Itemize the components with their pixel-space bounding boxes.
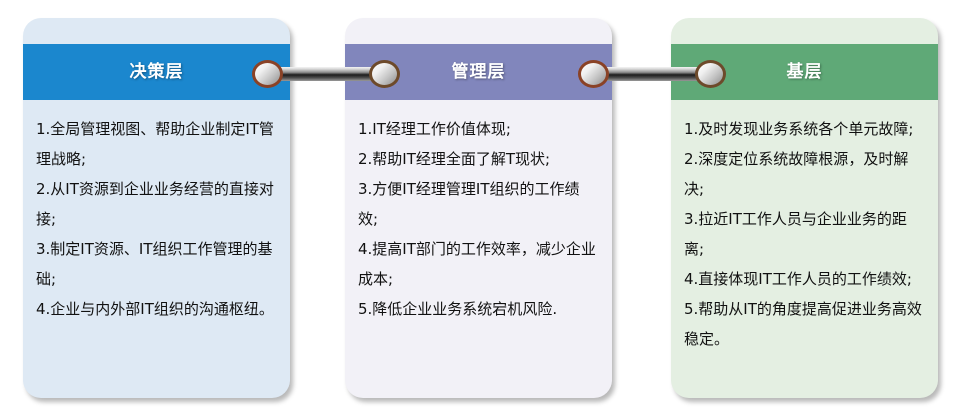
list-item: 4.直接体现IT工作人员的工作绩效; [684,264,925,294]
card-decision-layer[interactable]: 决策层 1.全局管理视图、帮助企业制定IT管理战略; 2.从IT资源到企业业务经… [23,18,290,398]
list-item: 5.帮助从IT的角度提高促进业务高效稳定。 [684,294,925,354]
card-header-management-layer: 管理层 [345,44,612,100]
list-item: 3.制定IT资源、IT组织工作管理的基础; [36,234,277,294]
list-item: 1.IT经理工作价值体现; [358,114,599,144]
card-header-base-layer: 基层 [671,44,938,100]
card-title-decision-layer: 决策层 [130,64,184,81]
list-item: 1.及时发现业务系统各个单元故障; [684,114,925,144]
list-item: 4.提高IT部门的工作效率，减少企业成本; [358,234,599,294]
card-title-management-layer: 管理层 [452,64,506,81]
card-body-decision-layer: 1.全局管理视图、帮助企业制定IT管理战略; 2.从IT资源到企业业务经营的直接… [23,100,290,334]
list-item: 3.方便IT经理管理IT组织的工作绩效; [358,174,599,234]
card-header-decision-layer: 决策层 [23,44,290,100]
list-item: 2.帮助IT经理全面了解T现状; [358,144,599,174]
card-body-management-layer: 1.IT经理工作价值体现; 2.帮助IT经理全面了解T现状; 3.方便IT经理管… [345,100,612,334]
list-item: 2.深度定位系统故障根源，及时解决; [684,144,925,204]
list-item: 3.拉近IT工作人员与企业业务的距离; [684,204,925,264]
list-item: 2.从IT资源到企业业务经营的直接对接; [36,174,277,234]
card-management-layer[interactable]: 管理层 1.IT经理工作价值体现; 2.帮助IT经理全面了解T现状; 3.方便I… [345,18,612,398]
diagram-canvas: 决策层 1.全局管理视图、帮助企业制定IT管理战略; 2.从IT资源到企业业务经… [0,0,960,416]
card-base-layer[interactable]: 基层 1.及时发现业务系统各个单元故障; 2.深度定位系统故障根源，及时解决; … [671,18,938,398]
list-item: 4.企业与内外部IT组织的沟通枢纽。 [36,294,277,324]
list-item: 1.全局管理视图、帮助企业制定IT管理战略; [36,114,277,174]
card-body-base-layer: 1.及时发现业务系统各个单元故障; 2.深度定位系统故障根源，及时解决; 3.拉… [671,100,938,364]
card-title-base-layer: 基层 [787,64,823,81]
list-item: 5.降低企业业务系统宕机风险. [358,294,599,324]
